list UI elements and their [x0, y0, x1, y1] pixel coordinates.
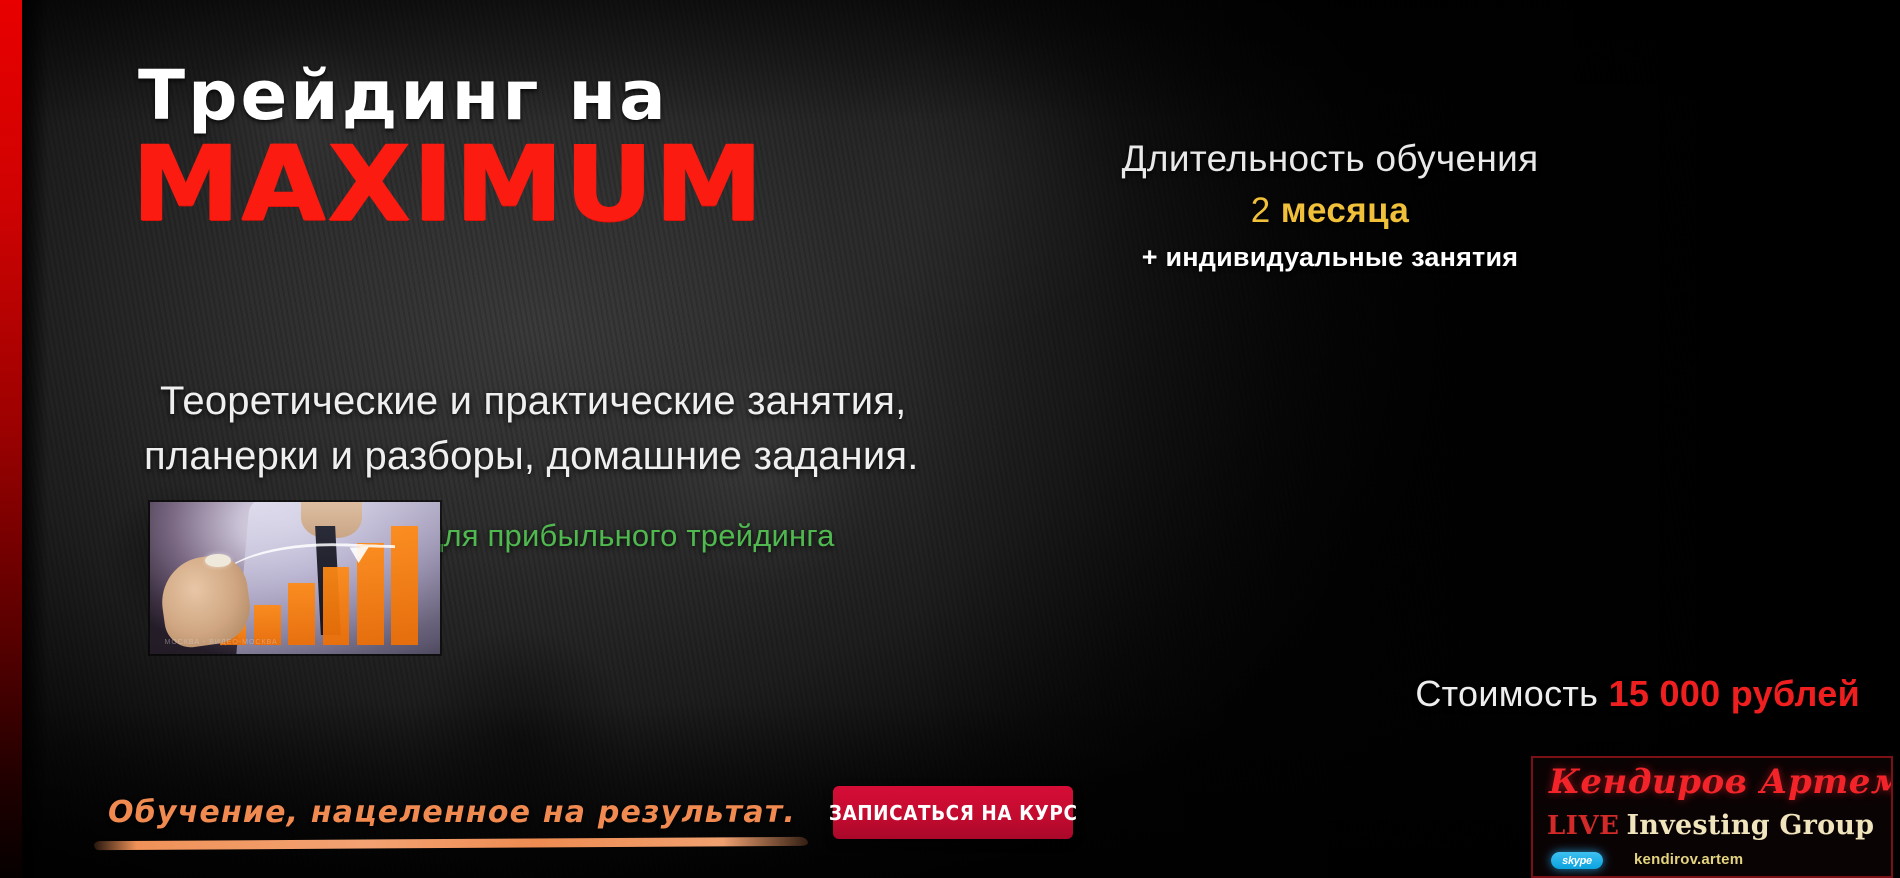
body-copy-line-1: Теоретические и практические занятия, — [160, 374, 919, 429]
brand-group-label: Investing Group — [1626, 810, 1874, 841]
skype-icon[interactable]: skype — [1551, 852, 1603, 869]
skype-icon-label: skype — [1562, 855, 1592, 867]
headline-line-top: Трейдинг на — [138, 62, 740, 131]
duration-block: Длительность обучения 2 месяца + индивид… — [1020, 138, 1640, 273]
duration-value-unit: месяца — [1281, 191, 1410, 230]
duration-value: 2 месяца — [1020, 191, 1640, 231]
skype-handle: kendirov.artem — [1634, 851, 1743, 868]
brand-live-label: LIVE — [1547, 811, 1619, 841]
businessman-chart-photo: МОСКВА - ВИДЕО-МОСКВА — [150, 502, 440, 654]
price-line: Стоимость 15 000 рублей — [1090, 673, 1860, 715]
duration-extra: + индивидуальные занятия — [1020, 242, 1640, 273]
body-copy: Теоретические и практические занятия, пл… — [160, 374, 919, 484]
slogan-block: Обучение, нацеленное на результат. — [108, 795, 808, 848]
stripe-shadow — [22, 0, 48, 878]
brand-logo-card[interactable]: Кендиров Артем LIVEInvesting Group skype… — [1531, 756, 1893, 878]
enroll-course-button[interactable]: ЗАПИСАТЬСЯ НА КУРС — [833, 786, 1073, 839]
left-red-accent-stripe — [0, 0, 22, 878]
headline: Трейдинг на MAXIMUM — [138, 62, 740, 233]
body-copy-line-2: планерки и разборы, домашние задания. — [144, 429, 919, 484]
duration-title: Длительность обучения — [1020, 138, 1640, 180]
photo-vignette — [150, 502, 440, 654]
banner-stage: Трейдинг на MAXIMUM Длительность обучени… — [0, 0, 1900, 878]
brand-author-name: Кендиров Артем — [1549, 762, 1893, 802]
price-amount: 15 000 рублей — [1609, 673, 1860, 714]
headline-line-main: MAXIMUM — [132, 137, 765, 233]
price-label: Стоимость — [1415, 673, 1598, 714]
enroll-course-button-label: ЗАПИСАТЬСЯ НА КУРС — [829, 801, 1078, 825]
slogan-text: Обучение, нацеленное на результат. — [108, 795, 808, 830]
duration-value-number: 2 — [1251, 191, 1271, 230]
brand-subtitle: LIVEInvesting Group — [1547, 810, 1874, 841]
